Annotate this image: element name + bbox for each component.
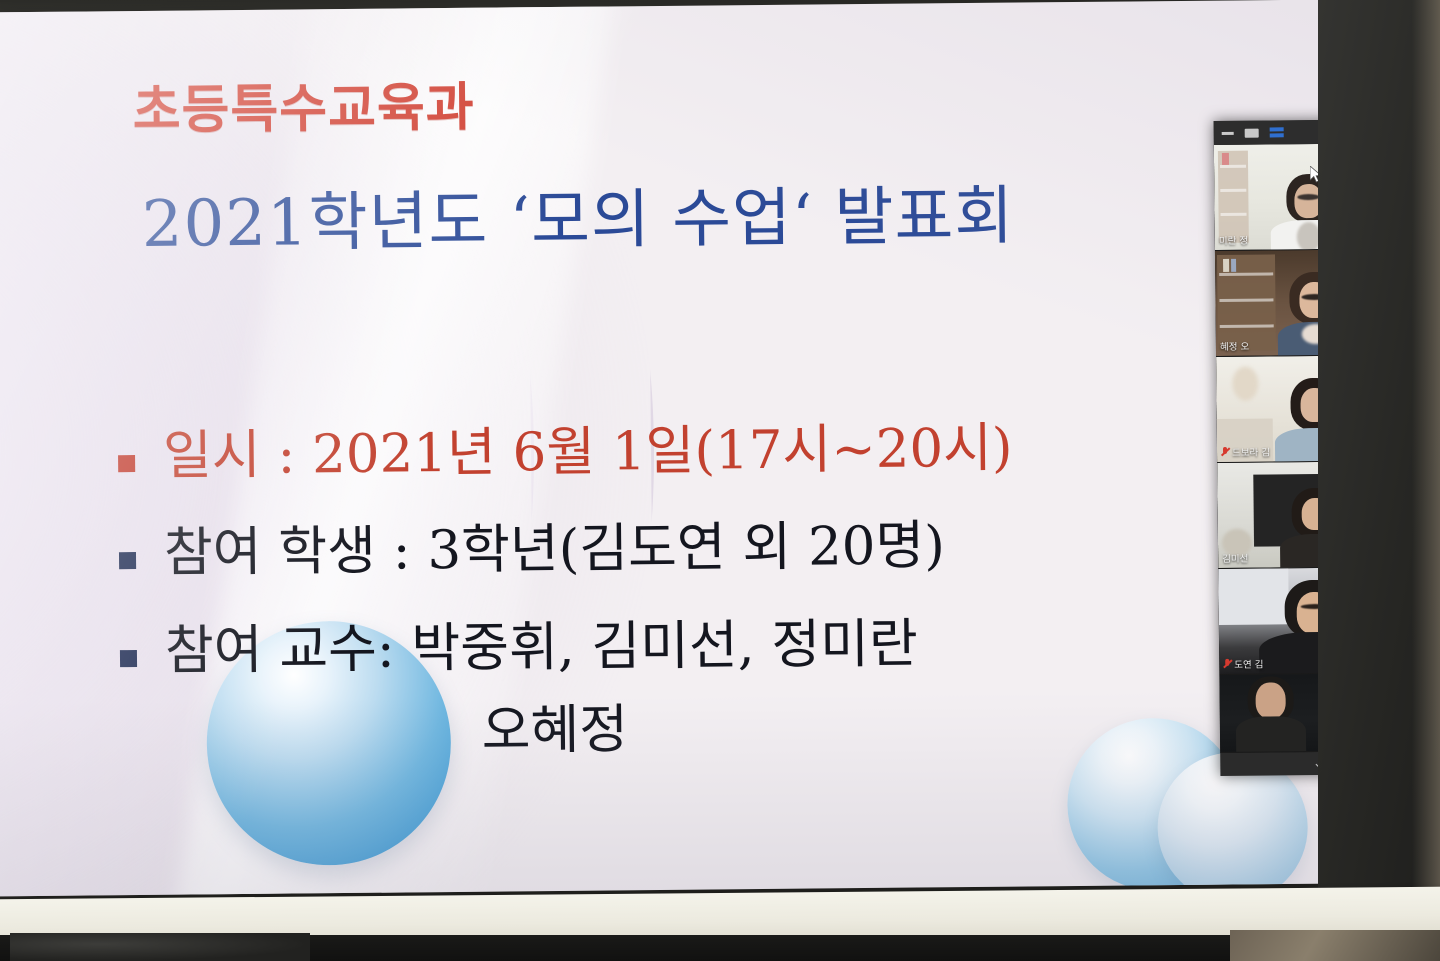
bullet-item: 참여 학생 : 3학년(김도연 외 20명): [119, 516, 1014, 584]
chair-silhouette: [10, 933, 310, 961]
participant-name-label: 혜정 오: [1220, 339, 1249, 353]
participant-name: 도연 김: [1234, 657, 1263, 671]
bullet-marker-icon: [118, 455, 135, 472]
bullet-marker-icon: [119, 552, 136, 569]
bullet-text: 일시 : 2021년 6월 1일(17시~20시): [163, 419, 1013, 487]
presentation-slide: 초등특수교육과 2021학년도 ‘모의 수업‘ 발표회 일시 : 2021년 6…: [0, 0, 1328, 896]
shelf-items: [1230, 930, 1440, 961]
mute-muted-icon: [1221, 447, 1229, 457]
bullet-text: 참여 교수: 박중휘, 김미선, 정미란: [165, 613, 918, 681]
bullet-text-group: 참여 교수: 박중휘, 김미선, 정미란 오혜정: [165, 614, 919, 764]
bullet-text: 참여 학생 : 3학년(김도연 외 20명): [164, 517, 946, 584]
participant-name-label: 미란 정: [1219, 233, 1248, 247]
gallery-grid-icon[interactable]: [1295, 126, 1308, 139]
department-heading: 초등특수교육과: [132, 65, 475, 143]
participant-name: 김미선: [1222, 551, 1248, 565]
speaker-view-icon[interactable]: [1245, 128, 1259, 137]
participant-name-label: 드보라 김: [1221, 444, 1270, 459]
bullet-list: 일시 : 2021년 6월 1일(17시~20시) 참여 학생 : 3학년(김도…: [118, 419, 1016, 803]
screenshot-root: 초등특수교육과 2021학년도 ‘모의 수업‘ 발표회 일시 : 2021년 6…: [0, 0, 1440, 961]
minimize-icon[interactable]: [1222, 131, 1234, 134]
slide-title: 2021학년도 ‘모의 수업‘ 발표회: [141, 165, 1014, 265]
bullet-marker-icon: [120, 650, 137, 667]
participant-name-label: 도연 김: [1223, 657, 1263, 671]
bullet-item: 일시 : 2021년 6월 1일(17시~20시): [118, 419, 1013, 487]
participant-name: 미란 정: [1219, 233, 1248, 247]
bullet-text-continuation: 오혜정: [481, 698, 918, 762]
participant-name: 혜정 오: [1220, 339, 1249, 353]
participant-name-label: 김미선: [1222, 551, 1248, 565]
participant-name: 드보라 김: [1232, 444, 1270, 458]
wall-edge-glow: [1412, 0, 1440, 961]
bullet-item: 참여 교수: 박중휘, 김미선, 정미란 오혜정: [120, 613, 1016, 764]
split-view-icon[interactable]: [1270, 127, 1284, 137]
mute-muted-icon: [1223, 659, 1231, 669]
